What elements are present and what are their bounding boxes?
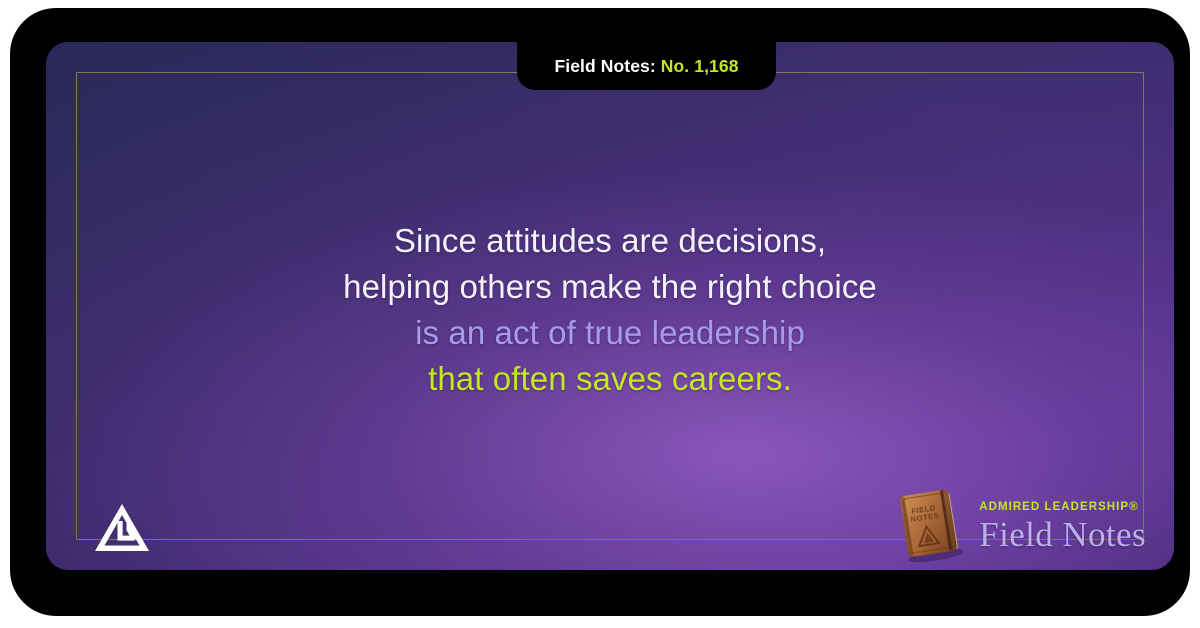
- quote-line-2: helping others make the right choice: [116, 264, 1104, 310]
- brand-wordmark: Field Notes: [979, 518, 1146, 552]
- field-notes-tab[interactable]: Field Notes: No. 1,168: [517, 42, 776, 90]
- admired-leadership-triangle-icon: [93, 502, 151, 554]
- tab-issue-number: No. 1,168: [661, 56, 739, 76]
- outer-black-frame: Field Notes: No. 1,168 Since attitudes a…: [10, 8, 1190, 616]
- quote-card: Field Notes: No. 1,168 Since attitudes a…: [46, 42, 1174, 570]
- field-notes-notebook-icon: FIELD NOTES: [889, 486, 973, 562]
- tab-label: Field Notes: No. 1,168: [554, 56, 738, 77]
- quote-line-1: Since attitudes are decisions,: [116, 218, 1104, 264]
- brand-lockup-text: ADMIRED LEADERSHIP® Field Notes: [979, 502, 1146, 558]
- screenshot-stage: Field Notes: No. 1,168 Since attitudes a…: [0, 0, 1200, 628]
- brand-lockup: FIELD NOTES ADMIRED LEADERSHIP® Field No…: [889, 478, 1146, 558]
- tab-label-prefix: Field Notes:: [554, 56, 655, 76]
- quote-line-4: that often saves careers.: [116, 356, 1104, 402]
- quote-line-3: is an act of true leadership: [116, 310, 1104, 356]
- brand-kicker: ADMIRED LEADERSHIP®: [979, 502, 1138, 514]
- quote-block: Since attitudes are decisions, helping o…: [46, 218, 1174, 402]
